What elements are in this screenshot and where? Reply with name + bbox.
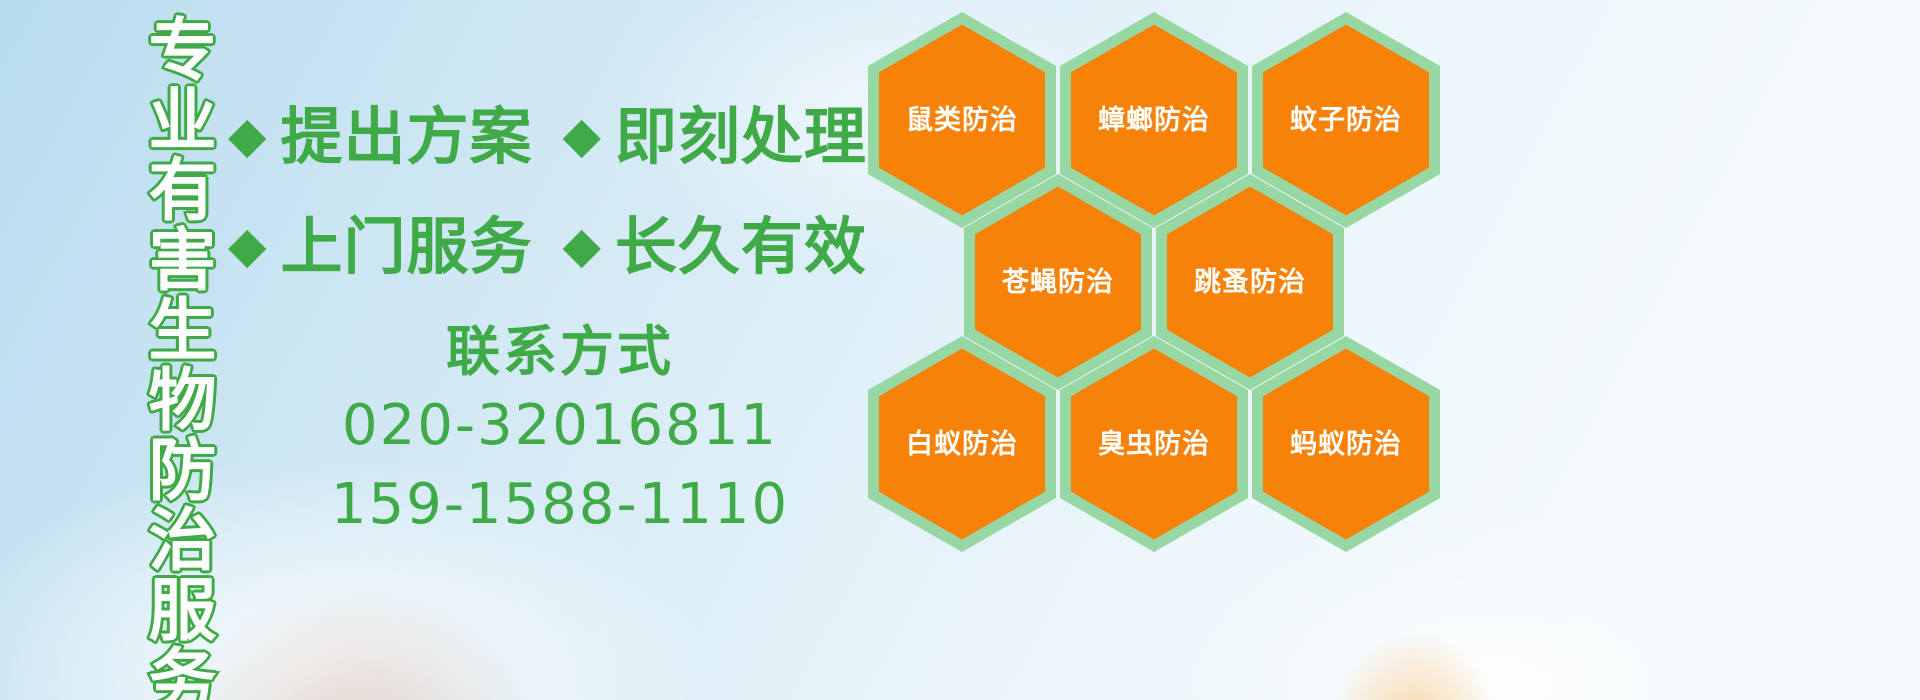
feature-item-propose-plan: ◆ 提出方案	[228, 106, 532, 168]
feature-row: ◆ 提出方案 ◆ 即刻处理	[228, 82, 868, 192]
feature-list: ◆ 提出方案 ◆ 即刻处理 ◆ 上门服务 ◆ 长久有效	[228, 82, 868, 302]
hex-inner: 蚊子防治	[1263, 25, 1429, 216]
feature-item-long-lasting: ◆ 长久有效	[562, 216, 866, 278]
feature-label: 长久有效	[615, 216, 867, 278]
phone-mobile[interactable]: 159-1588-1110	[300, 465, 820, 545]
diamond-icon: ◆	[228, 220, 266, 270]
diamond-icon: ◆	[562, 110, 600, 160]
background-blur-warm-right	[1340, 640, 1490, 700]
hex-label: 白蚁防治	[906, 431, 1018, 458]
feature-label: 即刻处理	[615, 106, 867, 168]
contact-heading: 联系方式	[300, 318, 820, 386]
phone-landline[interactable]: 020-32016811	[300, 386, 820, 466]
hex-label: 蚊子防治	[1290, 107, 1402, 134]
feature-item-immediate-handling: ◆ 即刻处理	[562, 106, 866, 168]
hex-label: 苍蝇防治	[1002, 269, 1114, 296]
feature-label: 上门服务	[280, 216, 532, 278]
pest-control-banner: 专业有害生物防治服务 ◆ 提出方案 ◆ 即刻处理 ◆ 上门服务 ◆ 长久有效 联…	[0, 0, 1920, 700]
hex-inner: 臭虫防治	[1071, 349, 1237, 540]
hex-inner: 蟑螂防治	[1071, 25, 1237, 216]
diamond-icon: ◆	[562, 220, 600, 270]
hex-label: 臭虫防治	[1098, 431, 1210, 458]
hex-label: 蟑螂防治	[1098, 107, 1210, 134]
feature-row: ◆ 上门服务 ◆ 长久有效	[228, 192, 868, 302]
feature-item-onsite-service: ◆ 上门服务	[228, 216, 532, 278]
vertical-headline: 专业有害生物防治服务	[106, 14, 210, 574]
hex-inner: 蚂蚁防治	[1263, 349, 1429, 540]
service-honeycomb: 鼠类防治 蟑螂防治 蚊子防治 苍蝇防治 跳蚤防治 白蚁防治	[862, 2, 1462, 562]
hex-inner: 苍蝇防治	[975, 187, 1141, 378]
feature-label: 提出方案	[280, 106, 532, 168]
diamond-icon: ◆	[228, 110, 266, 160]
background-blur-warm-left	[190, 590, 530, 700]
hex-label: 鼠类防治	[906, 107, 1018, 134]
contact-block: 联系方式 020-32016811 159-1588-1110	[300, 318, 820, 545]
hex-label: 跳蚤防治	[1194, 269, 1306, 296]
hex-label: 蚂蚁防治	[1290, 431, 1402, 458]
hex-inner: 白蚁防治	[879, 349, 1045, 540]
hex-inner: 跳蚤防治	[1167, 187, 1333, 378]
hex-inner: 鼠类防治	[879, 25, 1045, 216]
